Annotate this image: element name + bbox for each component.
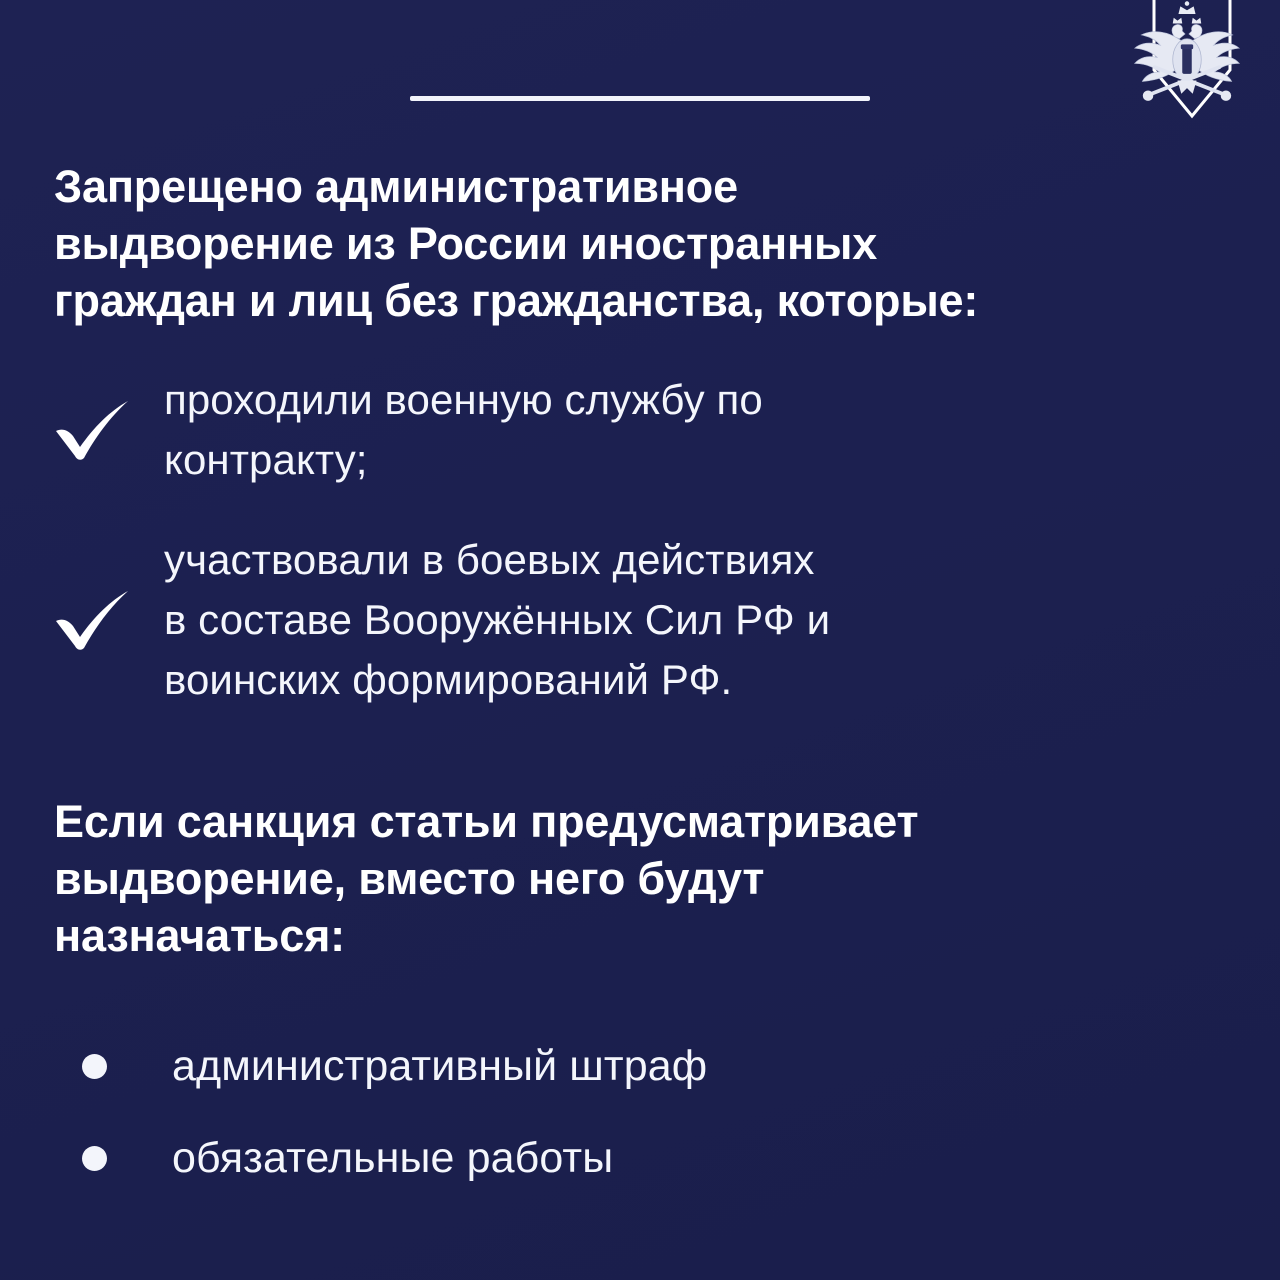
- emblem-badge: [1112, 0, 1262, 144]
- page-title-primary: Запрещено административное выдворение из…: [54, 158, 1239, 329]
- list-item-label: проходили военную службу по контракту;: [164, 370, 763, 490]
- bullet-dot-icon: [54, 1054, 172, 1079]
- list-item: обязательные работы: [54, 1112, 1234, 1204]
- list-item-label: обязательные работы: [172, 1130, 613, 1186]
- list-item-label: участвовали в боевых действиях в составе…: [164, 530, 830, 710]
- eagle-emblem-icon: [1135, 1, 1240, 101]
- list-item: проходили военную службу по контракту;: [54, 370, 1234, 490]
- check-icon: [54, 392, 164, 468]
- poster-root: Запрещено административное выдворение из…: [0, 0, 1280, 1280]
- header-divider: [410, 96, 870, 101]
- check-list: проходили военную службу по контракту; у…: [54, 370, 1234, 750]
- check-icon: [54, 582, 164, 658]
- bullet-dot-icon: [54, 1146, 172, 1171]
- page-title-secondary: Если санкция статьи предусматривает выдв…: [54, 793, 1174, 964]
- bullet-list: административный штраф обязательные рабо…: [54, 1020, 1234, 1204]
- list-item: участвовали в боевых действиях в составе…: [54, 530, 1234, 710]
- list-item-label: административный штраф: [172, 1038, 707, 1094]
- list-item: административный штраф: [54, 1020, 1234, 1112]
